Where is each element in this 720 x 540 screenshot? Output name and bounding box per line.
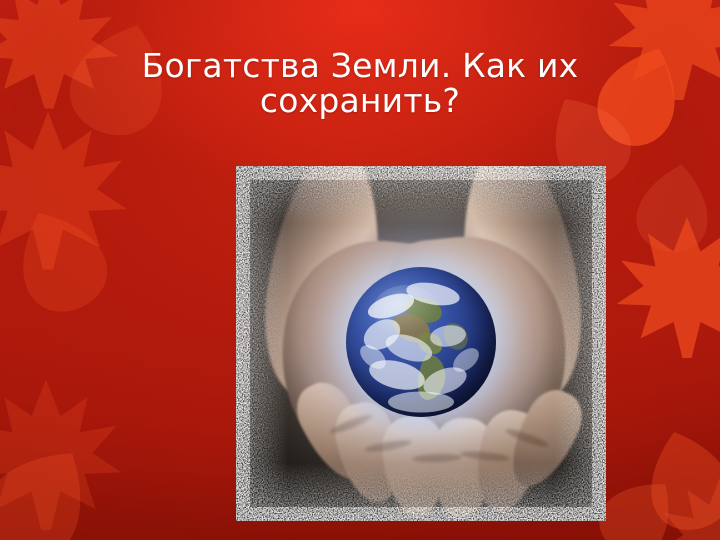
maple-leaf-icon	[0, 372, 126, 534]
maple-leaf-icon	[0, 104, 132, 274]
birch-leaf-icon	[619, 143, 720, 273]
slide-title: Богатства Земли. Как их сохранить?	[56, 49, 664, 118]
birch-leaf-icon	[621, 408, 720, 540]
photo-content	[236, 166, 606, 521]
presentation-slide: Богатства Земли. Как их сохранить?	[0, 0, 720, 540]
slide-image-hands-holding-earth	[236, 166, 606, 521]
maple-leaf-icon	[612, 210, 720, 362]
birch-leaf-icon	[0, 183, 134, 337]
photo-inner-vignette	[236, 166, 606, 521]
maple-leaf-icon	[656, 470, 720, 540]
birch-leaf-icon	[0, 417, 124, 540]
